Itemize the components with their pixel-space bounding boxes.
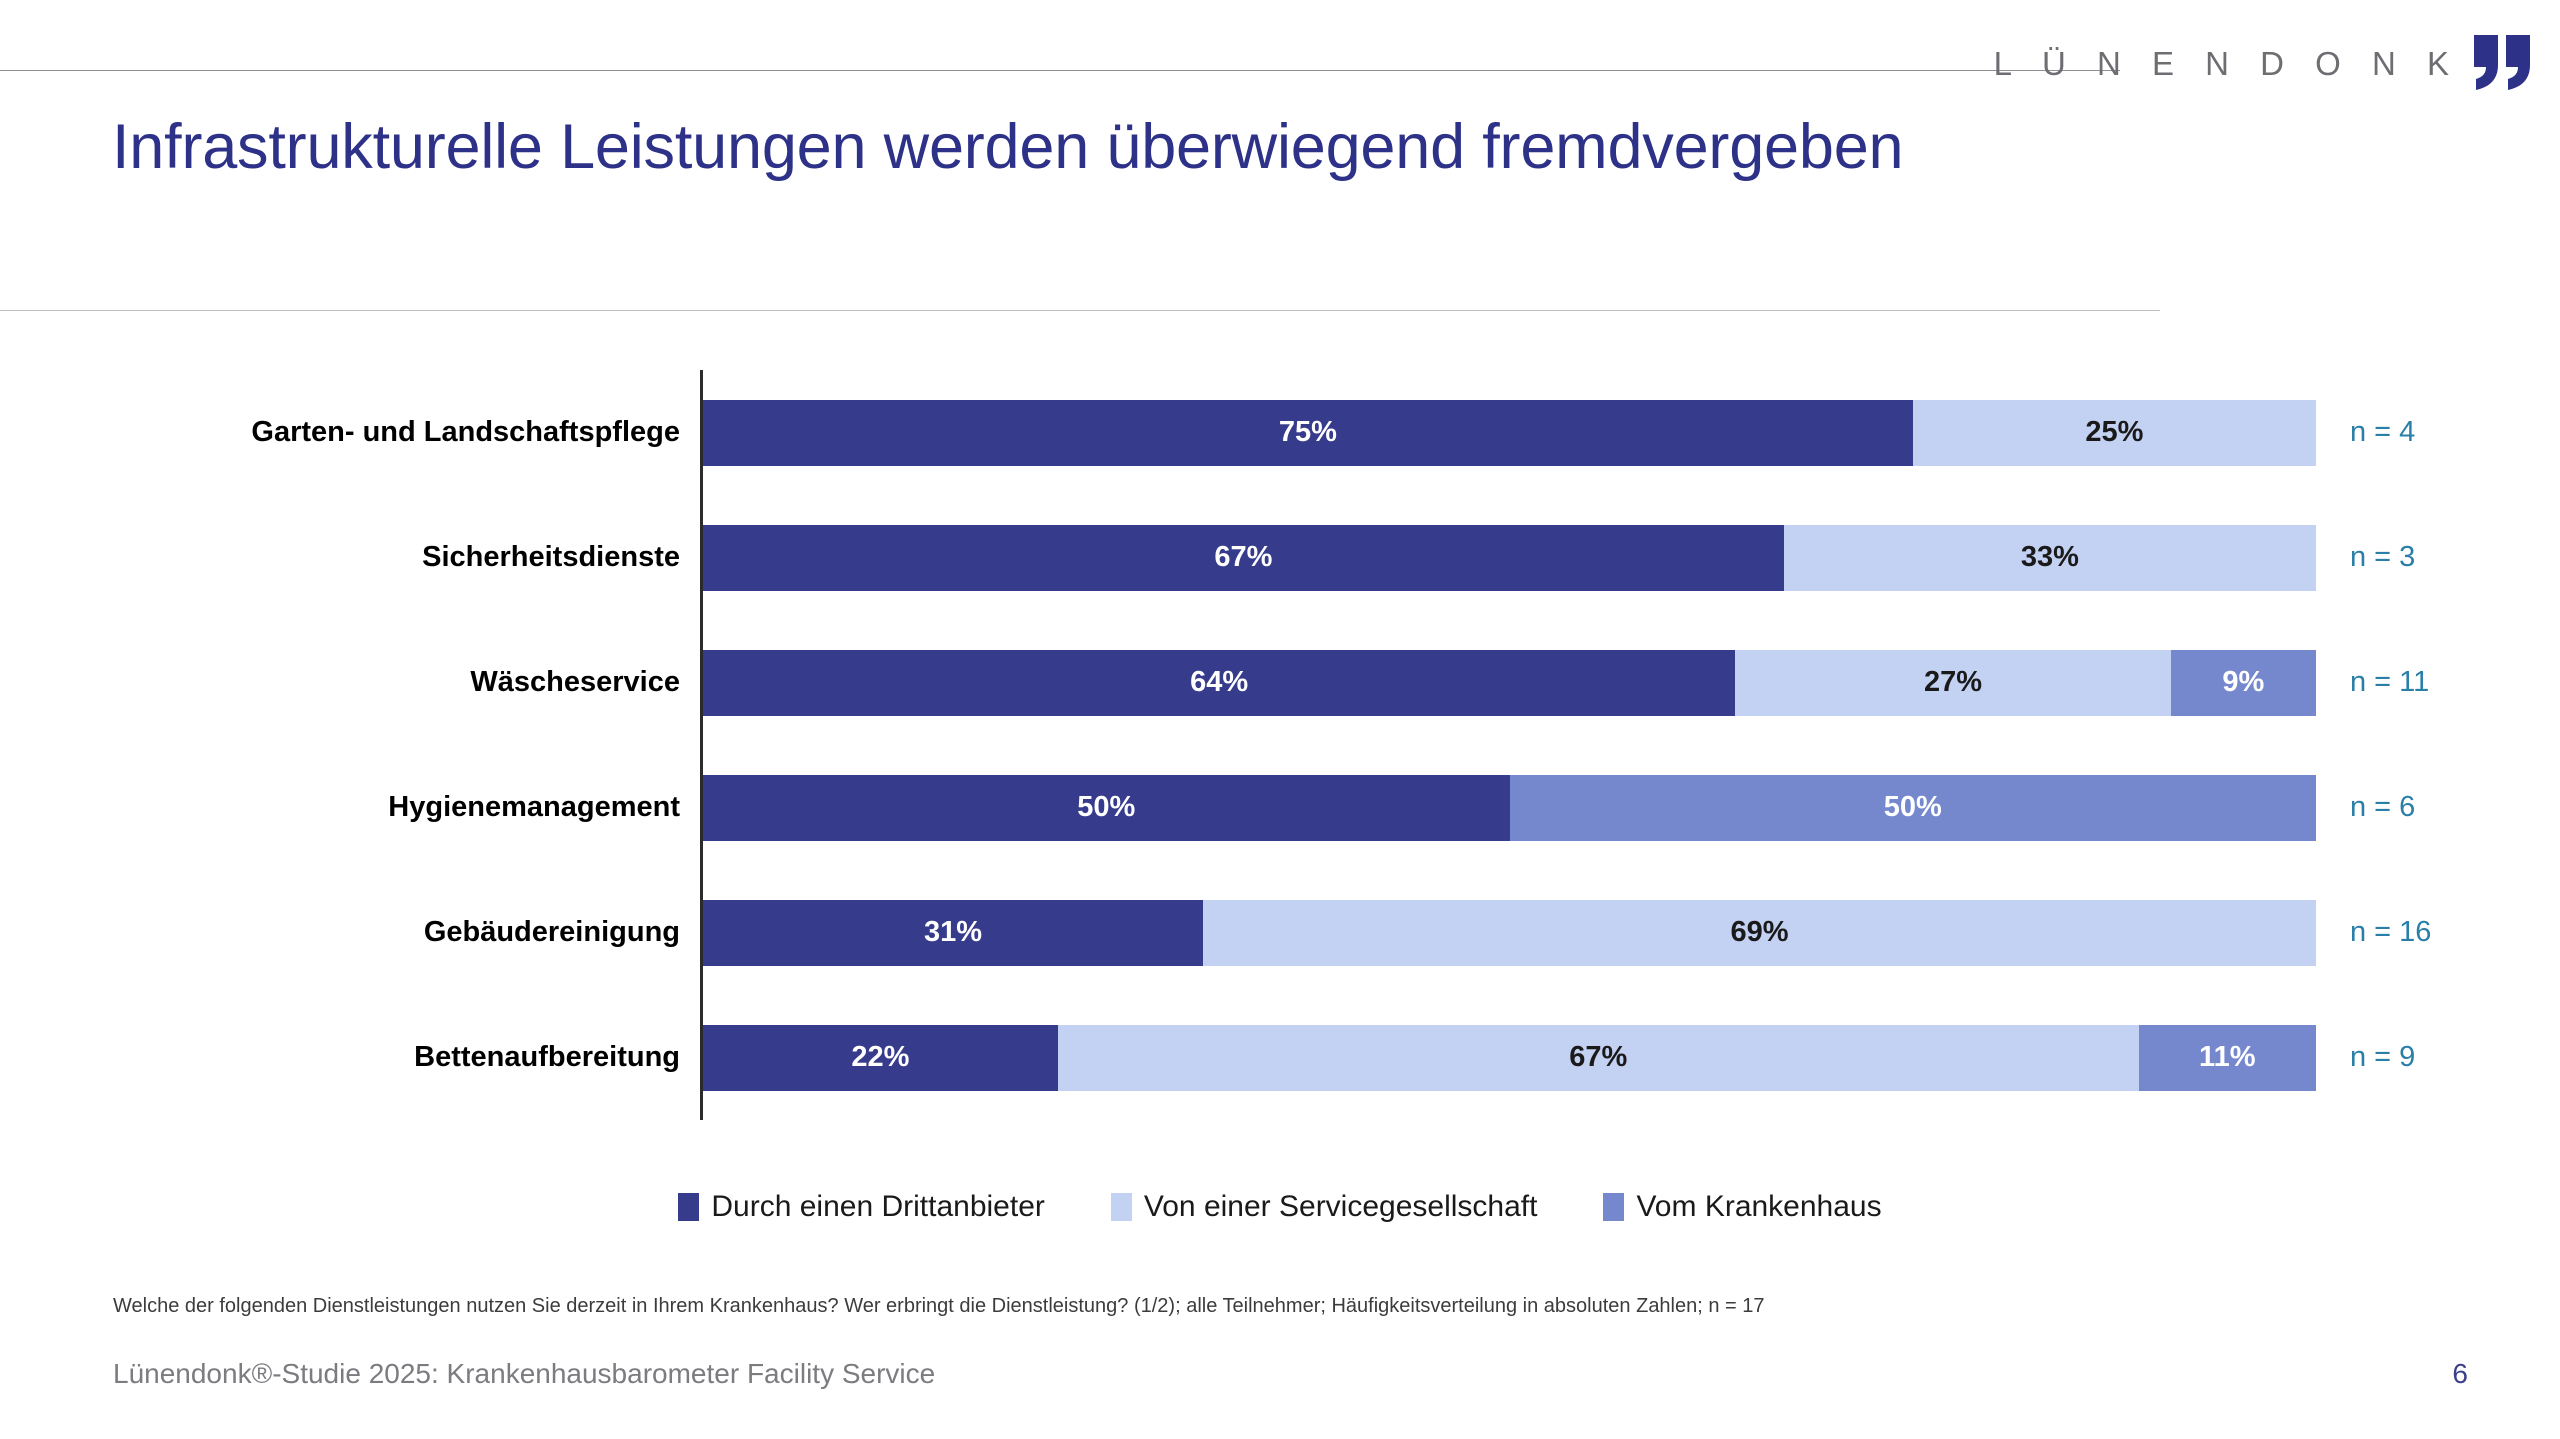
chart-row: Sicherheitsdienste67%33%n = 3 (0, 495, 2560, 620)
chart-row: Garten- und Landschaftspflege75%25%n = 4 (0, 370, 2560, 495)
chart-legend: Durch einen DrittanbieterVon einer Servi… (0, 1190, 2560, 1224)
legend-swatch-icon (678, 1193, 699, 1221)
bar-segment[interactable]: 27% (1735, 650, 2171, 716)
luenendonk-logo: L Ü N E N D O N K (1994, 35, 2532, 91)
bar-segment[interactable]: 9% (2171, 650, 2316, 716)
bar-segment[interactable]: 25% (1913, 400, 2316, 466)
bar-segment[interactable]: 31% (703, 900, 1203, 966)
category-label: Garten- und Landschaftspflege (251, 370, 680, 495)
sample-size-label: n = 16 (2350, 870, 2431, 995)
bar-segment[interactable]: 75% (703, 400, 1913, 466)
title-divider (0, 310, 2160, 311)
legend-item[interactable]: Von einer Servicegesellschaft (1111, 1190, 1538, 1224)
page-header: L Ü N E N D O N K (0, 0, 2560, 110)
bar-segment[interactable]: 67% (703, 525, 1784, 591)
page-number: 6 (2452, 1358, 2468, 1390)
bar-track: 31%69% (703, 870, 2316, 995)
legend-item[interactable]: Durch einen Drittanbieter (678, 1190, 1045, 1224)
legend-label: Durch einen Drittanbieter (711, 1190, 1045, 1224)
legend-label: Von einer Servicegesellschaft (1144, 1190, 1538, 1224)
stacked-bar[interactable]: 31%69% (703, 900, 2316, 966)
chart-footnote: Welche der folgenden Dienstleistungen nu… (113, 1295, 1765, 1318)
bar-track: 22%67%11% (703, 995, 2316, 1120)
bar-segment[interactable]: 22% (703, 1025, 1058, 1091)
header-divider (0, 70, 2120, 71)
bar-segment[interactable]: 69% (1203, 900, 2316, 966)
chart-row: Gebäudereinigung31%69%n = 16 (0, 870, 2560, 995)
bar-segment[interactable]: 50% (703, 775, 1510, 841)
chart-rows: Garten- und Landschaftspflege75%25%n = 4… (0, 370, 2560, 1120)
legend-label: Vom Krankenhaus (1636, 1190, 1881, 1224)
chart-row: Hygienemanagement50%50%n = 6 (0, 745, 2560, 870)
sample-size-label: n = 9 (2350, 995, 2415, 1120)
category-label: Sicherheitsdienste (422, 495, 680, 620)
category-label: Wäscheservice (470, 620, 680, 745)
bar-track: 67%33% (703, 495, 2316, 620)
footer-source: Lünendonk®-Studie 2025: Krankenhausbarom… (113, 1358, 935, 1390)
stacked-bar[interactable]: 67%33% (703, 525, 2316, 591)
legend-item[interactable]: Vom Krankenhaus (1603, 1190, 1881, 1224)
chart-row: Bettenaufbereitung22%67%11%n = 9 (0, 995, 2560, 1120)
stacked-bar[interactable]: 50%50% (703, 775, 2316, 841)
stacked-bar[interactable]: 22%67%11% (703, 1025, 2316, 1091)
bar-track: 75%25% (703, 370, 2316, 495)
stacked-bar-chart: Garten- und Landschaftspflege75%25%n = 4… (0, 360, 2560, 1160)
stacked-bar[interactable]: 64%27%9% (703, 650, 2316, 716)
category-label: Gebäudereinigung (424, 870, 680, 995)
category-label: Bettenaufbereitung (414, 995, 680, 1120)
sample-size-label: n = 11 (2350, 620, 2429, 745)
bar-segment[interactable]: 33% (1784, 525, 2316, 591)
bar-segment[interactable]: 11% (2139, 1025, 2316, 1091)
bar-segment[interactable]: 64% (703, 650, 1735, 716)
sample-size-label: n = 6 (2350, 745, 2415, 870)
legend-swatch-icon (1603, 1193, 1624, 1221)
category-label: Hygienemanagement (388, 745, 680, 870)
bar-track: 50%50% (703, 745, 2316, 870)
quote-mark-icon (2474, 35, 2532, 91)
sample-size-label: n = 3 (2350, 495, 2415, 620)
legend-swatch-icon (1111, 1193, 1132, 1221)
chart-row: Wäscheservice64%27%9%n = 11 (0, 620, 2560, 745)
page-title: Infrastrukturelle Leistungen werden über… (112, 110, 2412, 184)
bar-segment[interactable]: 67% (1058, 1025, 2139, 1091)
bar-track: 64%27%9% (703, 620, 2316, 745)
sample-size-label: n = 4 (2350, 370, 2415, 495)
logo-wordmark: L Ü N E N D O N K (1994, 47, 2460, 80)
page-footer: Lünendonk®-Studie 2025: Krankenhausbarom… (0, 1358, 2560, 1418)
stacked-bar[interactable]: 75%25% (703, 400, 2316, 466)
bar-segment[interactable]: 50% (1510, 775, 2317, 841)
